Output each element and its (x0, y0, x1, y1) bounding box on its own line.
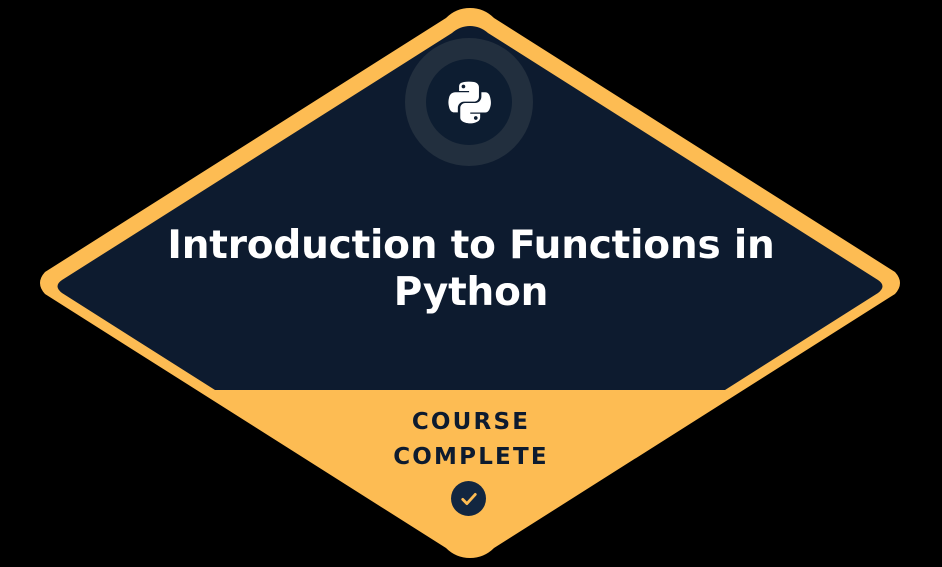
completion-badge[interactable] (0, 0, 942, 567)
badge-canvas: Introduction to Functions in Python COUR… (0, 0, 942, 567)
badge-body (0, 0, 942, 567)
badge-panel (58, 26, 883, 390)
badge-diamond-shape (0, 0, 942, 567)
